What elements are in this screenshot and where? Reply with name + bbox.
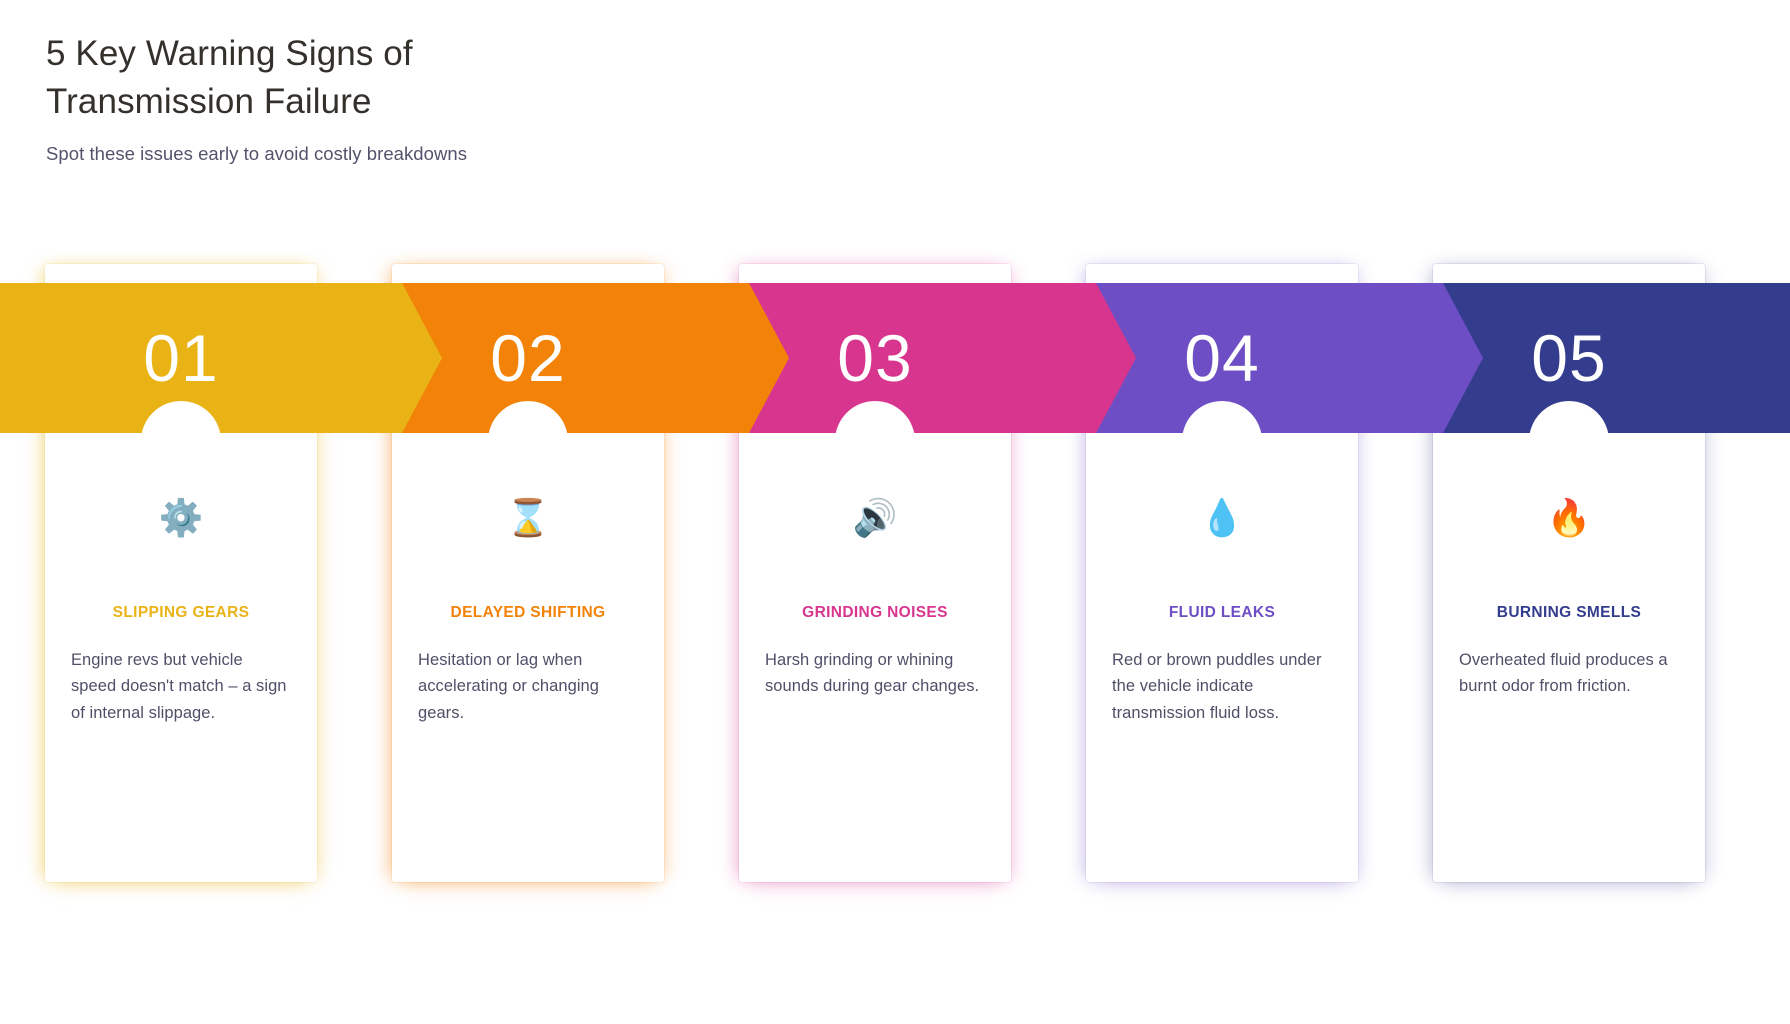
page-title: 5 Key Warning Signs of Transmission Fail… [46, 30, 466, 127]
water-droplet-icon: 💧 [1112, 496, 1332, 542]
step-card-3-body: 🔊 GRINDING NOISES Harsh grinding or whin… [739, 496, 1011, 700]
gear-icon: ⚙️ [71, 496, 291, 542]
step-card-4-body: 💧 FLUID LEAKS Red or brown puddles under… [1086, 496, 1358, 727]
header: 5 Key Warning Signs of Transmission Fail… [46, 30, 946, 165]
step-card-2-text: Hesitation or lag when accelerating or c… [418, 647, 638, 727]
speaker-sound-icon: 🔊 [765, 496, 985, 542]
infographic-page: 5 Key Warning Signs of Transmission Fail… [0, 0, 1790, 1024]
step-card-1-heading: SLIPPING GEARS [71, 604, 291, 623]
step-card-5-text: Overheated fluid produces a burnt odor f… [1459, 647, 1679, 700]
step-card-2-heading: DELAYED SHIFTING [418, 604, 638, 623]
step-card-5-body: 🔥 BURNING SMELLS Overheated fluid produc… [1433, 496, 1705, 700]
step-card-3-heading: GRINDING NOISES [765, 604, 985, 623]
step-card-1-body: ⚙️ SLIPPING GEARS Engine revs but vehicl… [45, 496, 317, 727]
step-card-3-text: Harsh grinding or whining sounds during … [765, 647, 985, 700]
fire-flame-icon: 🔥 [1459, 496, 1679, 542]
step-card-4-heading: FLUID LEAKS [1112, 604, 1332, 623]
step-card-4-text: Red or brown puddles under the vehicle i… [1112, 647, 1332, 727]
chevron-segments [0, 283, 1790, 433]
step-card-5-heading: BURNING SMELLS [1459, 604, 1679, 623]
step-card-1-text: Engine revs but vehicle speed doesn't ma… [71, 647, 291, 727]
chevron-segment-1 [0, 283, 442, 433]
chevron-banner-svg [0, 283, 1790, 433]
step-card-2-body: ⌛ DELAYED SHIFTING Hesitation or lag whe… [392, 496, 664, 727]
page-subtitle: Spot these issues early to avoid costly … [46, 143, 946, 165]
step-chevron-banner: 01 02 03 04 05 [0, 283, 1790, 433]
hourglass-icon: ⌛ [418, 496, 638, 542]
